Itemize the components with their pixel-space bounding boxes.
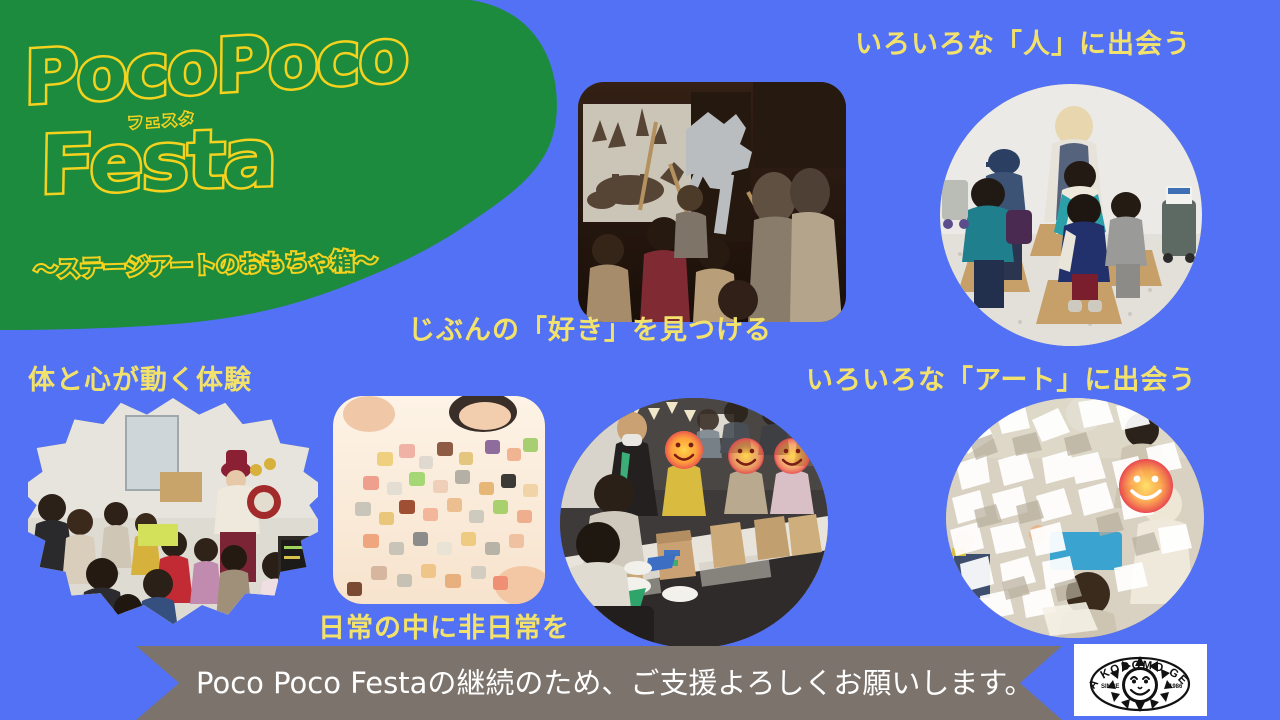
- logo-subtitle: 〜ステージアートのおもちゃ箱〜: [34, 242, 378, 285]
- festival-logo: PocoPoco フェスタ Festa 〜ステージアートのおもちゃ箱〜: [18, 18, 448, 283]
- photo-meeting-people-art: [940, 84, 1202, 346]
- photo-music-performance-art: [28, 398, 318, 636]
- photo-meeting-people: [940, 84, 1202, 346]
- organization-logo: TAMA KODOMO GEKIJO: [1074, 644, 1207, 716]
- logo-line-1: PocoPoco: [24, 20, 407, 114]
- photo-craft-workshop-art: [560, 398, 828, 648]
- photo-shadow-puppet-art: [578, 82, 846, 322]
- caption-extraordinary-daily: 日常の中に非日常を: [318, 606, 570, 645]
- poster-canvas: PocoPoco フェスタ Festa 〜ステージアートのおもちゃ箱〜 いろいろ…: [0, 0, 1280, 720]
- tama-kodomo-gekijo-logo: TAMA KODOMO GEKIJO: [1074, 644, 1207, 716]
- photo-jelly-blocks-art: [333, 396, 545, 604]
- photo-paper-play-art: [946, 398, 1204, 638]
- logo-line-2: Festa: [39, 120, 276, 204]
- caption-body-and-mind: 体と心が動く体験: [28, 358, 252, 397]
- logo-since-label: SINCE: [1101, 684, 1119, 690]
- banner-message: Poco Poco Festaの継続のため、ご支援よろしくお願いします。: [196, 646, 1034, 720]
- logo-since-year: 1986: [1169, 684, 1183, 690]
- caption-meet-art: いろいろな「アート」に出会う: [806, 358, 1196, 397]
- photo-jelly-blocks: [333, 396, 545, 604]
- photo-paper-play: [946, 398, 1204, 638]
- photo-music-performance: [28, 398, 318, 636]
- caption-find-your-like: じぶんの「好き」を見つける: [408, 308, 772, 347]
- photo-shadow-puppet-stage: [578, 82, 846, 322]
- caption-meet-people: いろいろな「人」に出会う: [855, 22, 1191, 61]
- photo-craft-workshop: [560, 398, 828, 648]
